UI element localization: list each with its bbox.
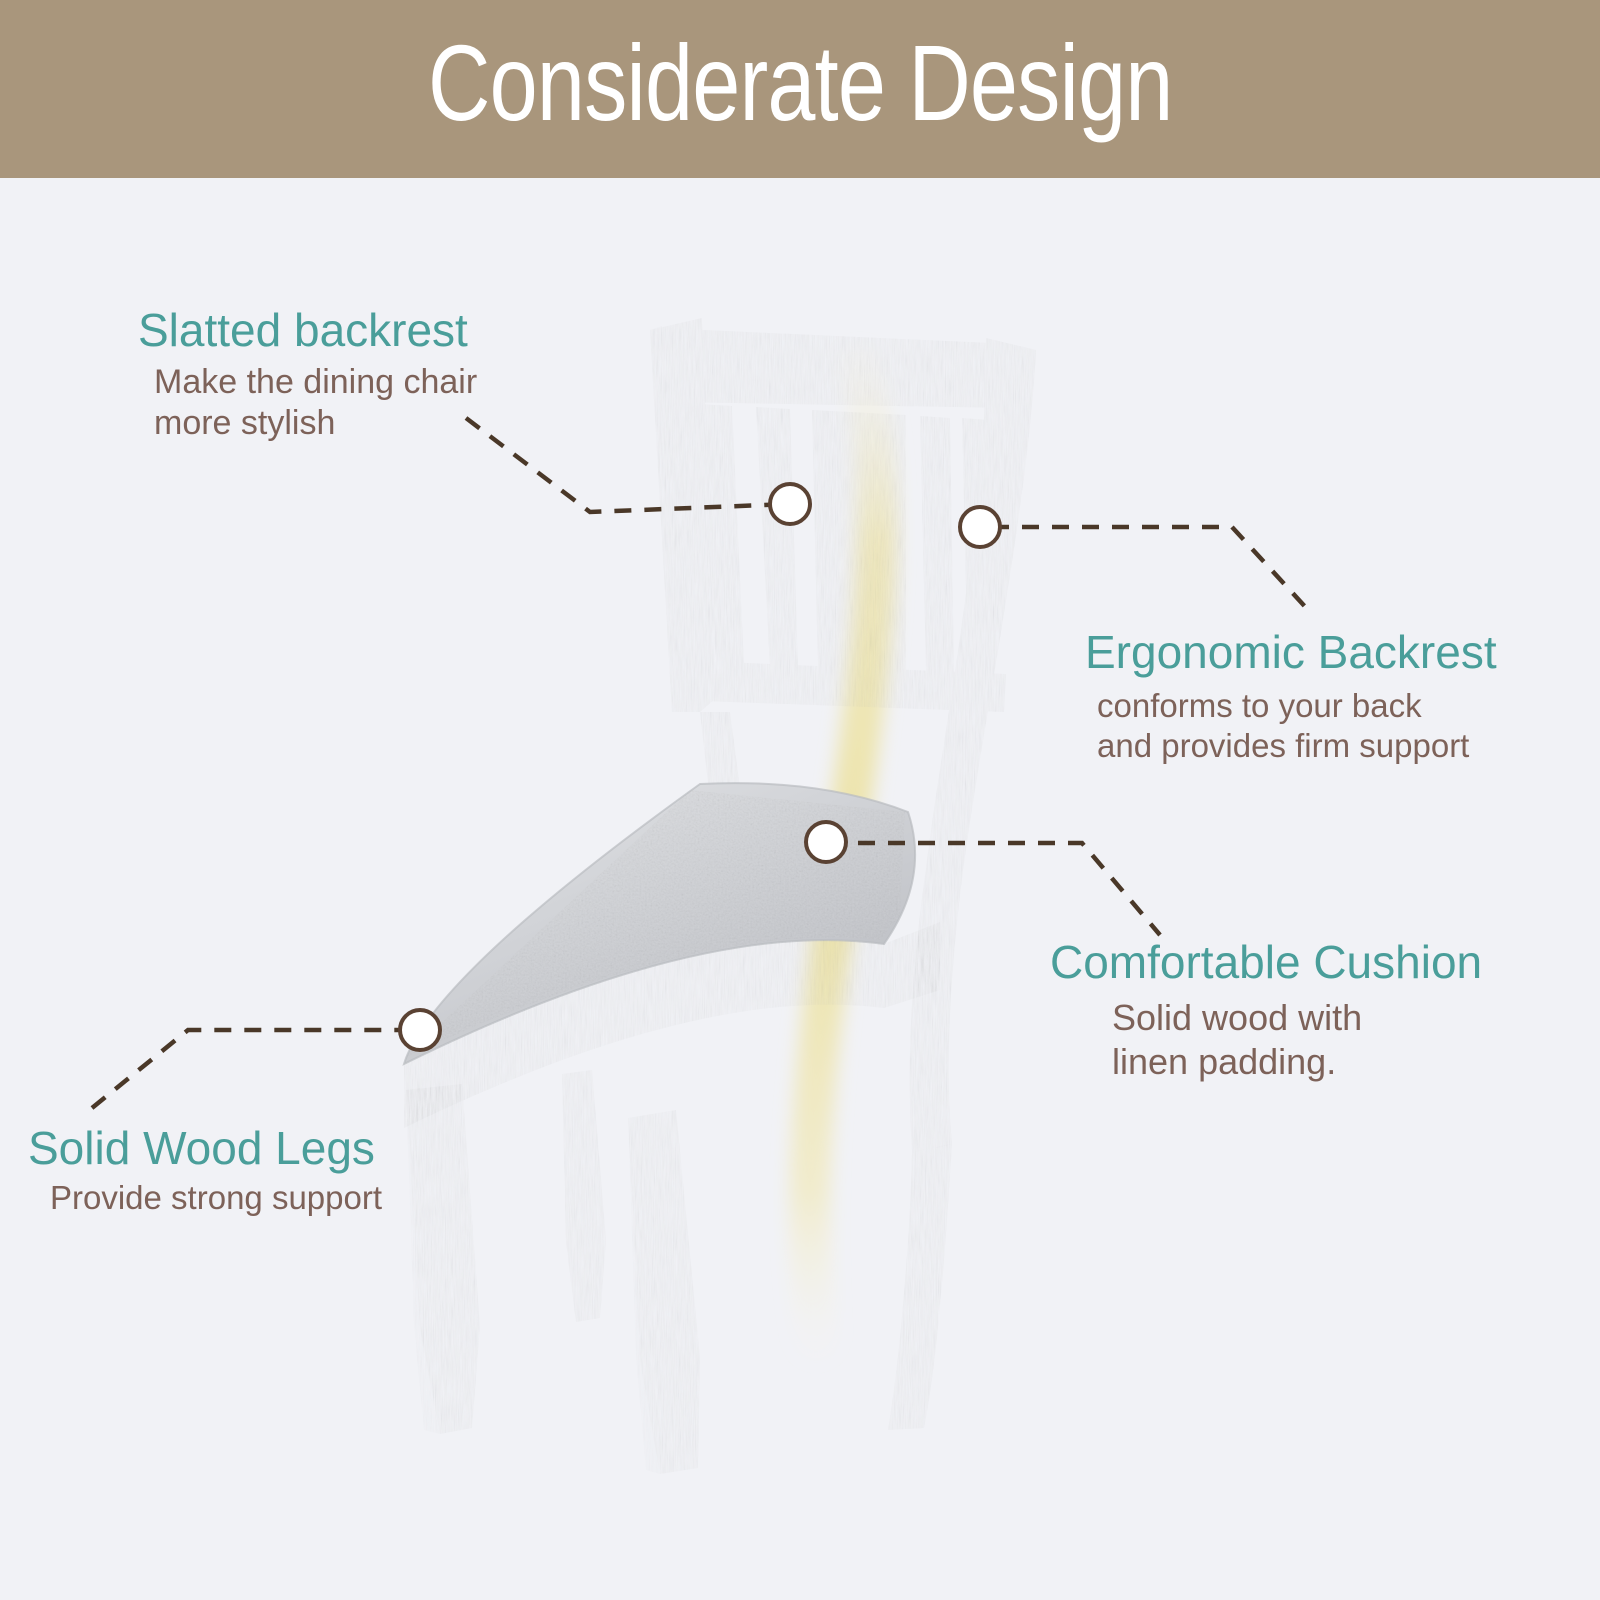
marker-dot-comfortable-cushion[interactable]: [804, 820, 848, 864]
callout-title-solid-wood-legs: Solid Wood Legs: [28, 1124, 382, 1174]
callout-subtitle-comfortable-cushion: Solid wood with linen padding.: [1112, 996, 1482, 1084]
page-title: Considerate Design: [428, 29, 1172, 149]
marker-dot-ergonomic-backrest[interactable]: [958, 505, 1002, 549]
callout-ergonomic-backrest: Ergonomic Backrest conforms to your back…: [1085, 628, 1497, 766]
callout-title-ergonomic-backrest: Ergonomic Backrest: [1085, 628, 1497, 678]
callout-title-slatted-backrest: Slatted backrest: [138, 306, 477, 356]
marker-dot-slatted-backrest[interactable]: [768, 482, 812, 526]
chair-legs: [406, 1070, 952, 1474]
callout-slatted-backrest: Slatted backrest Make the dining chair m…: [138, 306, 477, 445]
leg-back-left: [562, 1070, 606, 1322]
callout-title-comfortable-cushion: Comfortable Cushion: [1050, 938, 1482, 988]
header-banner: Considerate Design: [0, 0, 1600, 178]
callout-subtitle-ergonomic-backrest: conforms to your back and provides firm …: [1097, 686, 1497, 767]
backrest-slat: [756, 407, 798, 668]
backrest-slat-center: [812, 410, 906, 672]
backrest-slat: [920, 416, 954, 674]
callout-solid-wood-legs: Solid Wood Legs Provide strong support: [28, 1124, 382, 1218]
infographic-page: Considerate Design: [0, 0, 1600, 1600]
callout-comfortable-cushion: Comfortable Cushion Solid wood with line…: [1050, 938, 1482, 1083]
callout-subtitle-solid-wood-legs: Provide strong support: [50, 1178, 382, 1218]
marker-dot-solid-wood-legs[interactable]: [398, 1008, 442, 1052]
callout-subtitle-slatted-backrest: Make the dining chair more stylish: [154, 362, 477, 445]
